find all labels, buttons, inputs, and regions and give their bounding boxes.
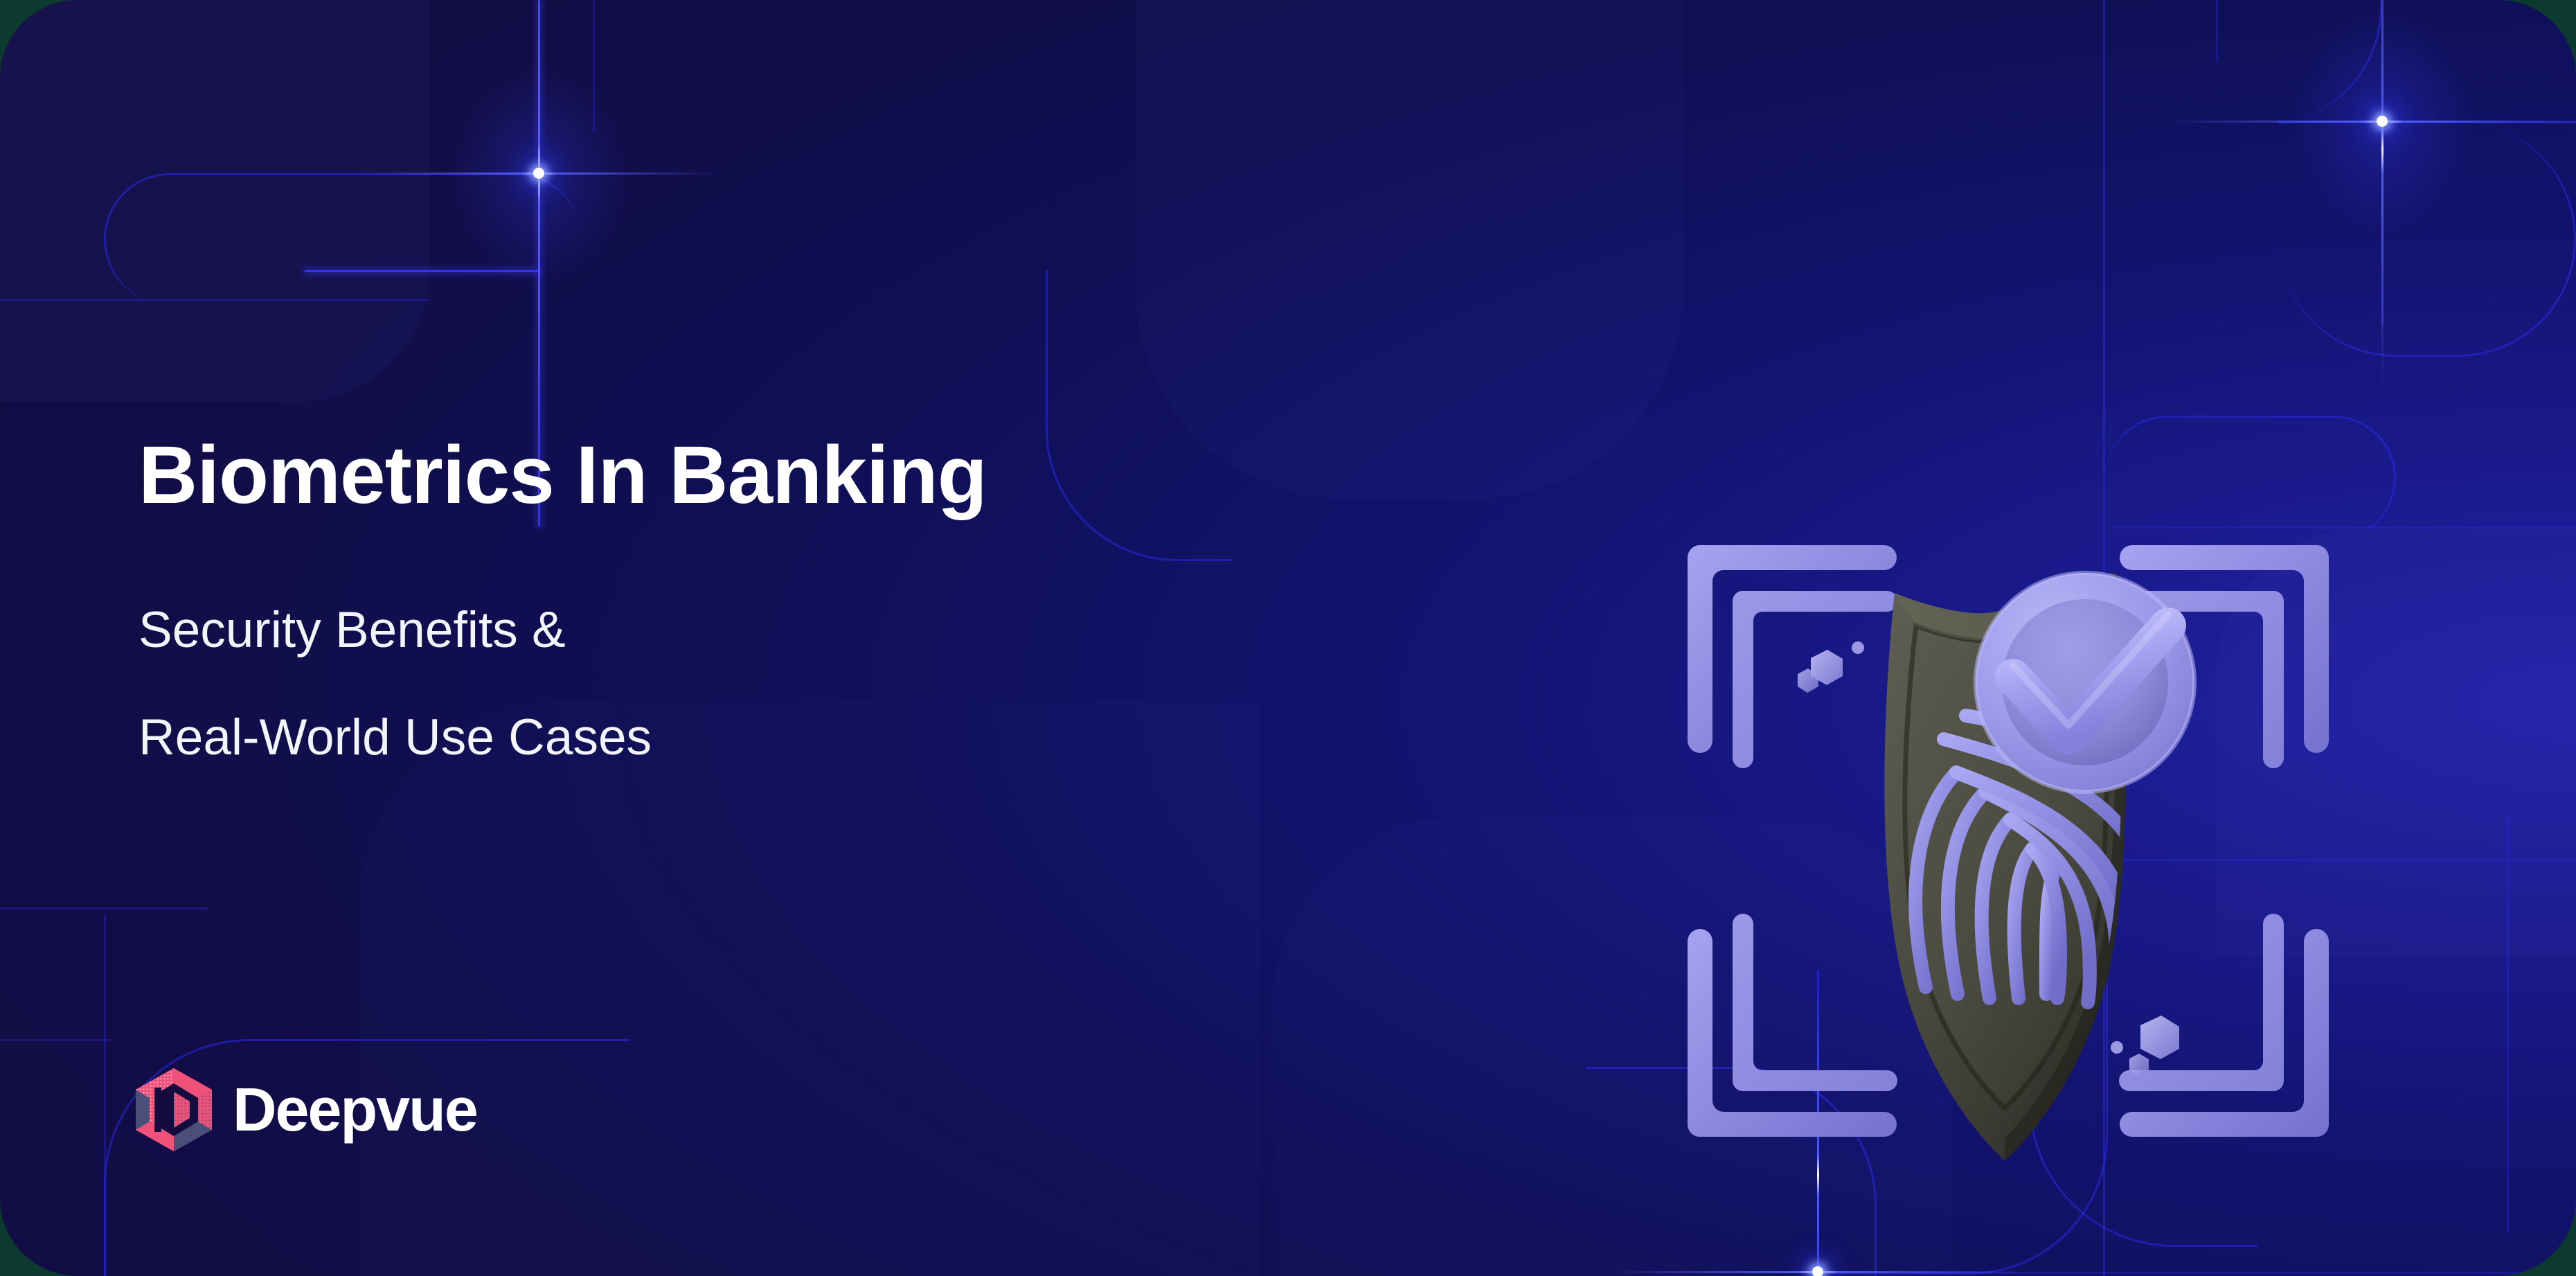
trace-v-1 bbox=[593, 0, 595, 132]
subtitle-line-1: Security Benefits & bbox=[138, 605, 566, 655]
trace-h-6 bbox=[1911, 1272, 2576, 1274]
scanner-bracket-bottom-left bbox=[1688, 914, 1897, 1137]
trace-elbow-1 bbox=[104, 173, 582, 305]
brand-wordmark: Deepvue bbox=[233, 1079, 477, 1140]
page-title: Biometrics In Banking bbox=[138, 434, 987, 516]
subtitle-line-2: Real-World Use Cases bbox=[138, 712, 652, 763]
trace-elbow-3 bbox=[2278, 121, 2576, 357]
scanner-bracket-top-left bbox=[1688, 545, 1897, 768]
banner-root: Biometrics In Banking Security Benefits … bbox=[0, 0, 2576, 1276]
deepvue-hexagon-logo-icon bbox=[132, 1067, 216, 1153]
trace-elbow-2 bbox=[2105, 0, 2382, 125]
trace-elbow-4 bbox=[1046, 270, 1233, 561]
brand-logo[interactable]: Deepvue bbox=[132, 1067, 477, 1153]
check-badge bbox=[1976, 573, 2194, 792]
trace-v-8 bbox=[2507, 817, 2509, 1233]
biometric-shield-scanner-illustration bbox=[1658, 509, 2358, 1174]
trace-h-7 bbox=[0, 907, 208, 910]
trace-h-8 bbox=[0, 1039, 111, 1041]
